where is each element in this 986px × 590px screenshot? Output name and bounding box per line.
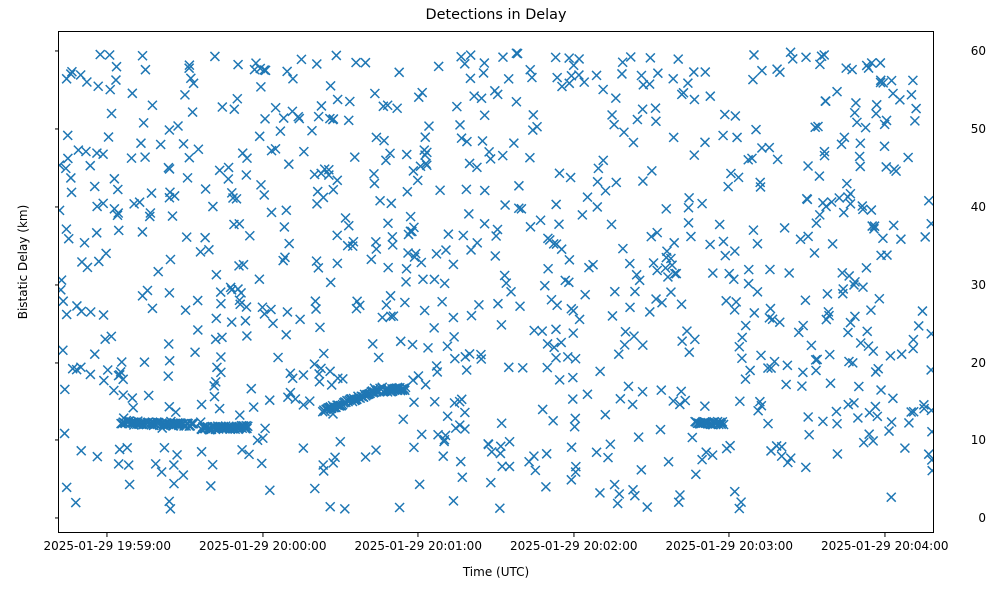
matplotlib-figure: Detections in Delay Bistatic Delay (km) … — [0, 0, 986, 590]
x-tick-label: 2025-01-29 20:00:00 — [199, 539, 326, 553]
x-tick-label: 2025-01-29 20:01:00 — [355, 539, 482, 553]
scatter-markers-layer — [59, 32, 933, 532]
x-tick-label: 2025-01-29 20:02:00 — [510, 539, 637, 553]
x-tick-mark — [262, 533, 263, 537]
y-tick-label: 50 — [940, 122, 986, 136]
y-tick-label: 20 — [940, 356, 986, 370]
x-tick-mark — [418, 533, 419, 537]
y-tick-label: 10 — [940, 433, 986, 447]
y-axis-label: Bistatic Delay (km) — [16, 132, 30, 392]
y-tick-label: 60 — [940, 44, 986, 58]
y-tick-label: 40 — [940, 200, 986, 214]
plot-area — [58, 31, 934, 533]
x-axis-label: Time (UTC) — [58, 565, 934, 579]
x-tick-label: 2025-01-29 20:04:00 — [821, 539, 948, 553]
x-tick-mark — [107, 533, 108, 537]
x-tick-label: 2025-01-29 20:03:00 — [666, 539, 793, 553]
x-tick-mark — [573, 533, 574, 537]
x-tick-mark — [729, 533, 730, 537]
x-tick-mark — [884, 533, 885, 537]
y-tick-label: 0 — [940, 511, 986, 525]
chart-title: Detections in Delay — [58, 6, 934, 24]
y-tick-label: 30 — [940, 278, 986, 292]
x-tick-label: 2025-01-29 19:59:00 — [44, 539, 171, 553]
